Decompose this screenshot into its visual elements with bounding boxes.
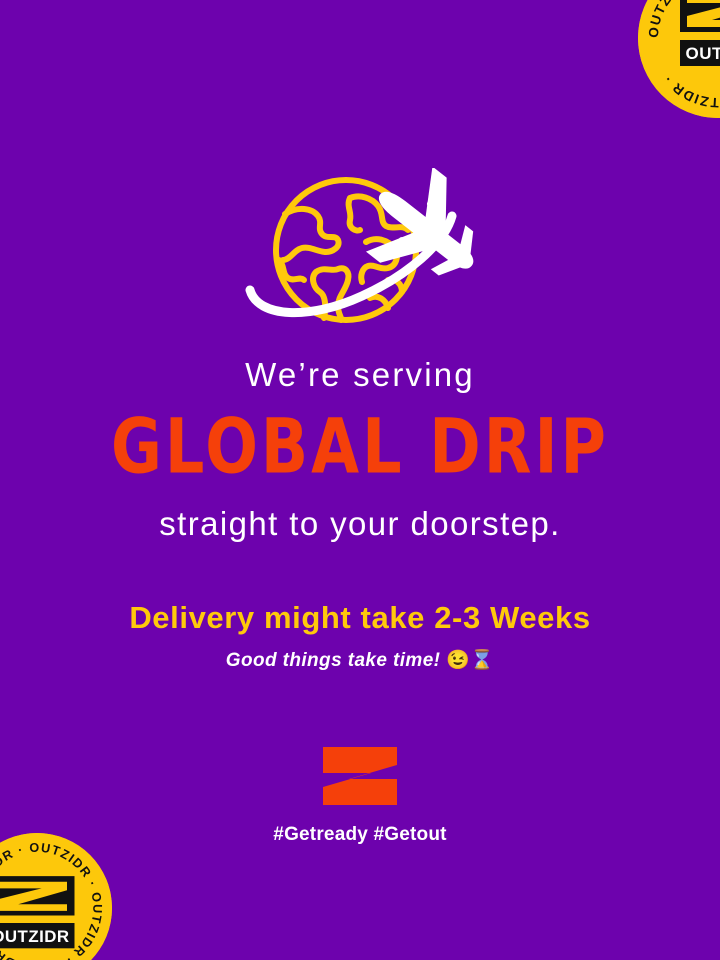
hashtags-text: #Getready #Getout (0, 824, 720, 846)
brand-badge-top-right: OUTZIDR · OUTZIDR · OUTZIDR · OUTZIDR · … (638, 0, 720, 118)
poster-canvas: OUTZIDR · OUTZIDR · OUTZIDR · OUTZIDR · … (0, 0, 720, 960)
subnote-text: Good things take time! (226, 650, 441, 671)
z-logo-icon (319, 745, 401, 807)
subnote-line: Good things take time! 😉⌛ (0, 651, 720, 670)
headline-pre-text: We’re serving (0, 358, 720, 391)
headline-main-text: GLOBAL DRIP (0, 409, 720, 485)
badge-wordmark: OUTZIDR (685, 44, 720, 63)
brand-badge-bottom-left: OUTZIDR · OUTZIDR · OUTZIDR · OUTZIDR · … (0, 833, 112, 960)
globe-airplane-artwork (238, 168, 486, 346)
subnote-emoji: 😉⌛ (446, 650, 494, 671)
badge-wordmark: OUTZIDR (0, 927, 70, 946)
badge-center-mark: OUTZIDR (0, 876, 75, 948)
footer-block: #Getready #Getout (0, 745, 720, 846)
headline-post-text: straight to your doorstep. (0, 507, 720, 540)
delivery-note-text: Delivery might take 2-3 Weeks (0, 602, 720, 633)
headline-block: We’re serving GLOBAL DRIP straight to yo… (0, 358, 720, 670)
